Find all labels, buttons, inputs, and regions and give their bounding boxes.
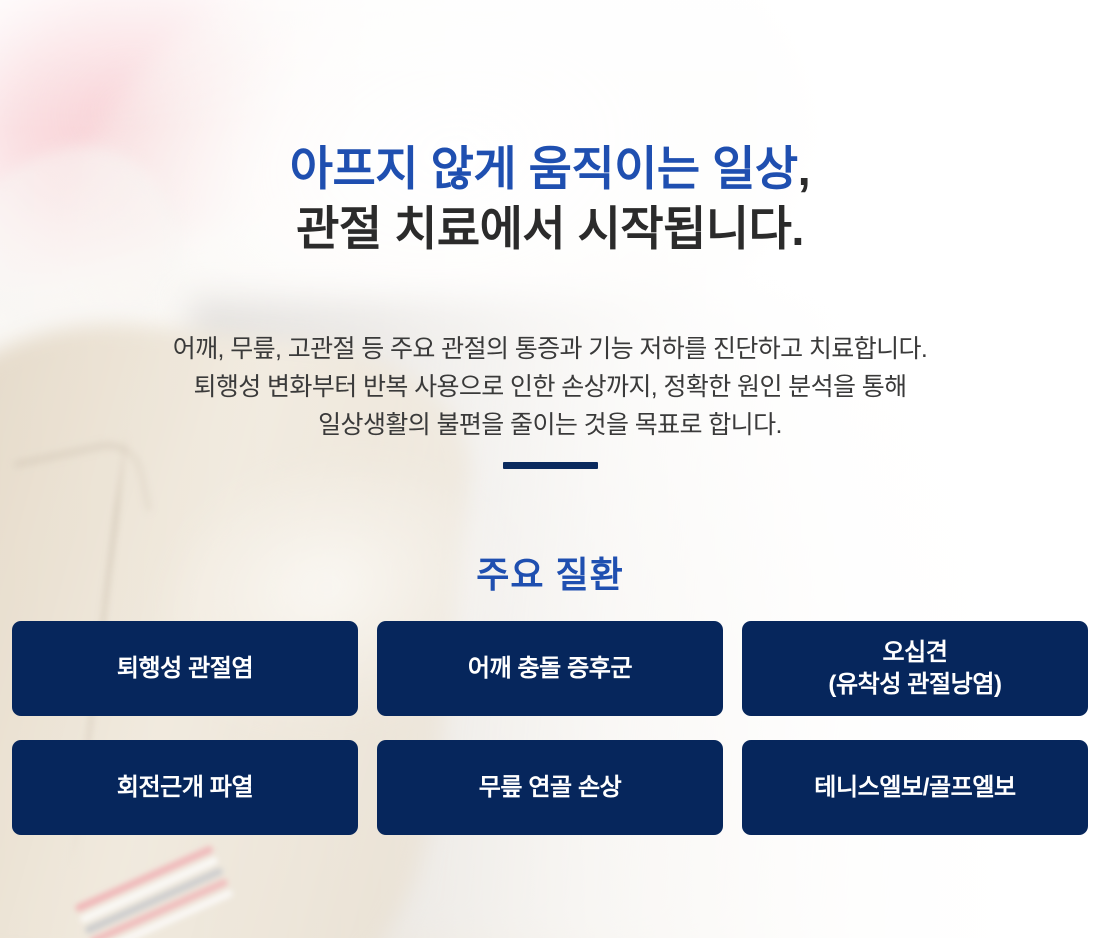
condition-card[interactable]: 어깨 충돌 증후군 bbox=[377, 621, 723, 716]
intro-line-2: 퇴행성 변화부터 반복 사용으로 인한 손상까지, 정확한 원인 분석을 통해 bbox=[0, 368, 1100, 406]
condition-card[interactable]: 퇴행성 관절염 bbox=[12, 621, 358, 716]
headline-line-2: 관절 치료에서 시작됩니다. bbox=[0, 199, 1100, 258]
condition-card[interactable]: 테니스엘보/골프엘보 bbox=[742, 740, 1088, 835]
condition-card[interactable]: 오십견 (유착성 관절낭염) bbox=[742, 621, 1088, 716]
intro-line-1: 어깨, 무릎, 고관절 등 주요 관절의 통증과 기능 저하를 진단하고 치료합… bbox=[0, 330, 1100, 368]
section-divider-bar bbox=[503, 462, 598, 469]
conditions-grid: 퇴행성 관절염 어깨 충돌 증후군 오십견 (유착성 관절낭염) 회전근개 파열… bbox=[12, 621, 1088, 835]
headline-line-1-comma: , bbox=[798, 142, 811, 195]
condition-card[interactable]: 무릎 연골 손상 bbox=[377, 740, 723, 835]
page-title: 아프지 않게 움직이는 일상, 관절 치료에서 시작됩니다. bbox=[0, 139, 1100, 257]
intro-paragraph: 어깨, 무릎, 고관절 등 주요 관절의 통증과 기능 저하를 진단하고 치료합… bbox=[0, 330, 1100, 444]
headline-line-1: 아프지 않게 움직이는 일상, bbox=[0, 139, 1100, 198]
intro-line-3: 일상생활의 불편을 줄이는 것을 목표로 합니다. bbox=[0, 406, 1100, 444]
section-title: 주요 질환 bbox=[0, 546, 1100, 598]
page-content: 아프지 않게 움직이는 일상, 관절 치료에서 시작됩니다. 어깨, 무릎, 고… bbox=[0, 0, 1100, 938]
joint-treatment-hero-page: 아프지 않게 움직이는 일상, 관절 치료에서 시작됩니다. 어깨, 무릎, 고… bbox=[0, 0, 1100, 938]
headline-line-1-text: 아프지 않게 움직이는 일상 bbox=[290, 142, 798, 195]
condition-card[interactable]: 회전근개 파열 bbox=[12, 740, 358, 835]
